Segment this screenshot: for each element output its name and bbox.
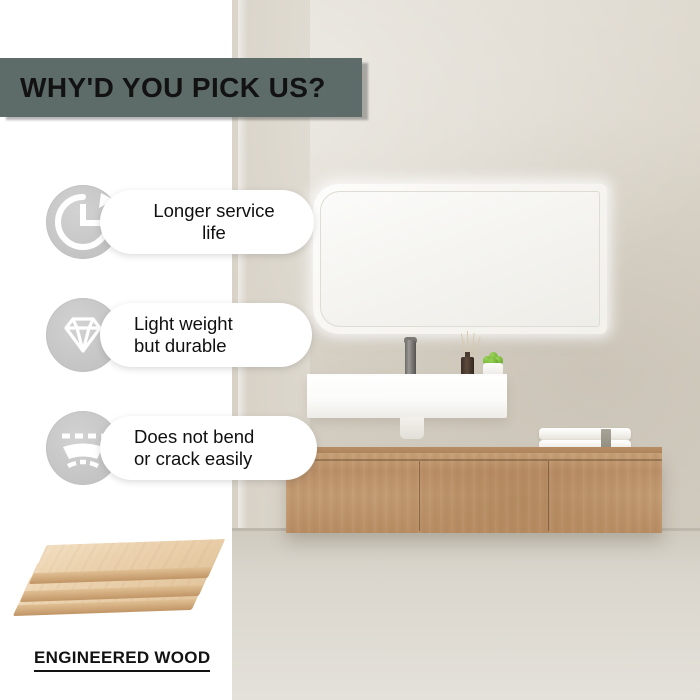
feature-row-light-weight: Light weight but durable: [46, 297, 312, 373]
feature-row-no-bend: Does not bend or crack easily: [46, 410, 317, 486]
feature-pill-light-weight: Light weight but durable: [100, 303, 312, 367]
floating-wood-vanity: [286, 453, 662, 533]
wall-mounted-basin: [307, 376, 507, 418]
drawer-seam: [548, 461, 549, 531]
product-feature-image: WHY'D YOU PICK US? Longer service life: [0, 0, 700, 700]
plywood-board: [27, 539, 226, 589]
feature-pill-service-life: Longer service life: [100, 190, 314, 254]
feature-pill-no-bend: Does not bend or crack easily: [100, 416, 317, 480]
basin-drain: [400, 417, 424, 439]
drawer-reveal: [286, 459, 662, 461]
feature-label: Longer service life: [134, 200, 294, 244]
wall-mirror: [313, 184, 607, 334]
towel-item: [539, 428, 631, 440]
material-label: ENGINEERED WOOD: [34, 648, 210, 672]
plywood-stack-icon: [22, 520, 222, 625]
feature-row-service-life: Longer service life: [46, 184, 314, 260]
drawer-seam: [419, 461, 420, 531]
feature-label: Does not bend or crack easily: [134, 426, 254, 470]
title-banner: WHY'D YOU PICK US?: [0, 58, 362, 117]
wood-grain-texture: [286, 453, 662, 533]
mirror-glass: [320, 191, 600, 327]
feature-label: Light weight but durable: [134, 313, 233, 357]
page-title: WHY'D YOU PICK US?: [0, 72, 326, 104]
